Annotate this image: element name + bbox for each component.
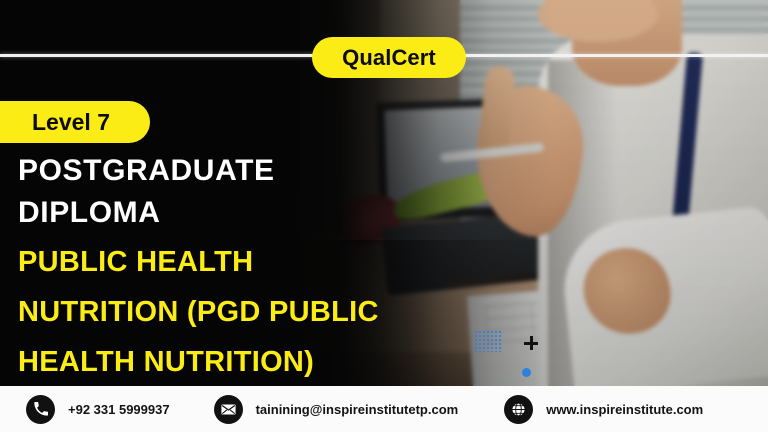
phone-value: +92 331 5999937 [68, 402, 170, 417]
course-subtitle-line-3: HEALTH NUTRITION) [18, 340, 458, 384]
plus-crosshair-icon [524, 336, 538, 350]
contact-email[interactable]: tainining@inspireinstitutetp.com [214, 386, 459, 432]
dot-grid-icon [474, 330, 501, 352]
phone-icon [26, 395, 55, 424]
brand-badge-label: QualCert [342, 45, 436, 71]
contact-bar: +92 331 5999937 tainining@inspireinstitu… [0, 386, 768, 432]
brand-badge: QualCert [312, 37, 466, 78]
course-subtitle-line-2: NUTRITION (PGD PUBLIC [18, 290, 458, 334]
globe-icon [504, 395, 533, 424]
envelope-icon [214, 395, 243, 424]
course-title-block: POSTGRADUATE DIPLOMA PUBLIC HEALTH NUTRI… [18, 150, 458, 384]
website-value: www.inspireinstitute.com [546, 402, 703, 417]
email-value: tainining@inspireinstitutetp.com [256, 402, 459, 417]
contact-phone[interactable]: +92 331 5999937 [26, 386, 170, 432]
level-badge-label: Level 7 [32, 109, 110, 136]
course-title-line-2: DIPLOMA [18, 192, 458, 234]
contact-website[interactable]: www.inspireinstitute.com [504, 386, 703, 432]
level-badge: Level 7 [0, 101, 150, 143]
course-title-line-1: POSTGRADUATE [18, 150, 458, 192]
course-subtitle-line-1: PUBLIC HEALTH [18, 240, 458, 284]
course-banner: QualCert Level 7 POSTGRADUATE DIPLOMA PU… [0, 0, 768, 432]
blue-dot-icon [522, 368, 531, 377]
